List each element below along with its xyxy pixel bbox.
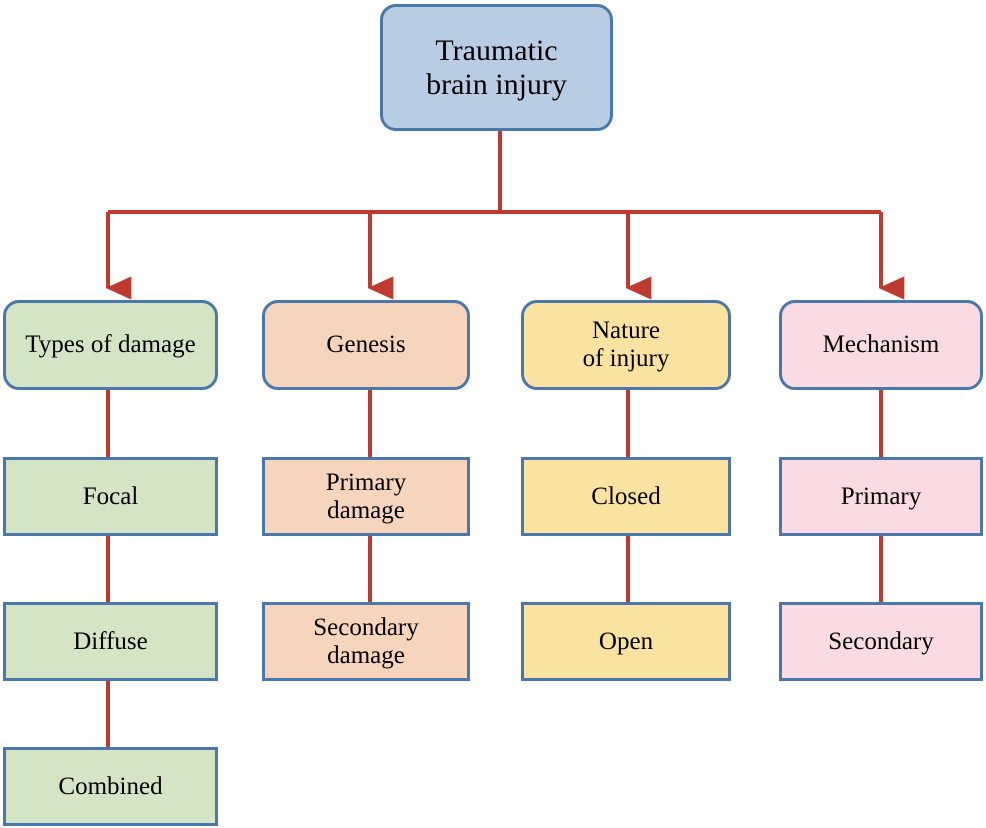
- node-label: Nature of injury: [577, 317, 676, 373]
- node-label: Genesis: [320, 331, 411, 359]
- node-focal[interactable]: Focal: [3, 457, 218, 536]
- node-label: Traumatic brain injury: [420, 34, 573, 101]
- node-label: Types of damage: [19, 331, 201, 359]
- node-diffuse[interactable]: Diffuse: [3, 602, 218, 681]
- node-label: Open: [593, 628, 659, 656]
- node-genesis[interactable]: Genesis: [262, 300, 470, 390]
- node-label: Secondary damage: [307, 614, 425, 670]
- node-closed[interactable]: Closed: [521, 457, 731, 536]
- node-label: Closed: [585, 483, 666, 511]
- flowchart-canvas: Traumatic brain injury Types of damage G…: [0, 0, 986, 828]
- node-label: Combined: [52, 773, 168, 801]
- node-secondary[interactable]: Secondary: [779, 602, 983, 681]
- node-mechanism[interactable]: Mechanism: [779, 300, 983, 390]
- node-secondary-damage[interactable]: Secondary damage: [262, 602, 470, 681]
- node-nature-of-injury[interactable]: Nature of injury: [521, 300, 731, 390]
- node-label: Focal: [77, 483, 145, 511]
- node-label: Secondary: [822, 628, 940, 656]
- node-label: Primary: [835, 483, 928, 511]
- node-label: Mechanism: [817, 331, 946, 359]
- node-combined[interactable]: Combined: [3, 747, 218, 826]
- node-primary-damage[interactable]: Primary damage: [262, 457, 470, 536]
- node-open[interactable]: Open: [521, 602, 731, 681]
- node-primary[interactable]: Primary: [779, 457, 983, 536]
- node-types-of-damage[interactable]: Types of damage: [3, 300, 218, 390]
- node-traumatic-brain-injury[interactable]: Traumatic brain injury: [380, 4, 613, 131]
- node-label: Diffuse: [67, 628, 154, 656]
- node-label: Primary damage: [320, 469, 413, 525]
